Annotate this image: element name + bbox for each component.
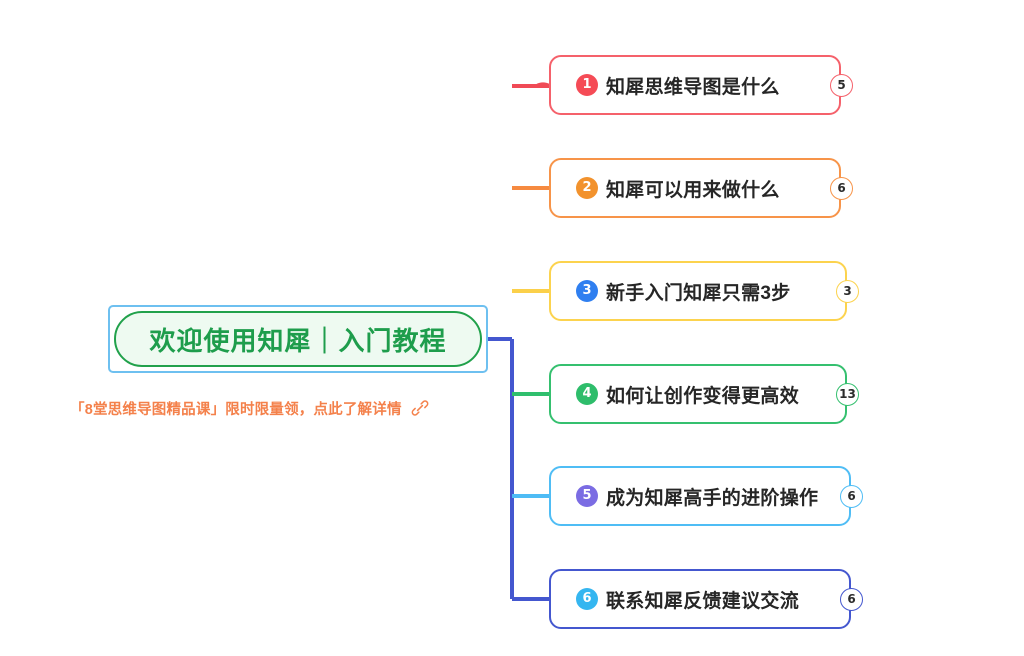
branch-node-2[interactable]: 2 知犀可以用来做什么 bbox=[549, 158, 841, 218]
branch-label-6: 联系知犀反馈建议交流 bbox=[606, 586, 799, 613]
branch-count-5[interactable]: 6 bbox=[840, 485, 863, 508]
root-node[interactable]: 欢迎使用知犀｜入门教程 bbox=[108, 305, 488, 373]
promo-link[interactable]: 「8堂思维导图精品课」限时限量领，点此了解详情 bbox=[70, 394, 510, 422]
branch-count-6[interactable]: 6 bbox=[840, 588, 863, 611]
root-node-label: 欢迎使用知犀｜入门教程 bbox=[149, 321, 446, 358]
branch-count-1[interactable]: 5 bbox=[830, 74, 853, 97]
branch-label-2: 知犀可以用来做什么 bbox=[606, 175, 780, 202]
connector-branch-1 bbox=[512, 84, 549, 86]
branch-count-4[interactable]: 13 bbox=[836, 383, 859, 406]
branch-label-3: 新手入门知犀只需3步 bbox=[606, 278, 791, 305]
branch-label-4: 如何让创作变得更高效 bbox=[606, 381, 799, 408]
branch-badge-5: 5 bbox=[576, 485, 598, 507]
root-node-pill[interactable]: 欢迎使用知犀｜入门教程 bbox=[114, 311, 482, 367]
branch-node-5[interactable]: 5 成为知犀高手的进阶操作 bbox=[549, 466, 851, 526]
branch-badge-4: 4 bbox=[576, 383, 598, 405]
promo-text: 「8堂思维导图精品课」限时限量领，点此了解详情 bbox=[70, 398, 402, 419]
branch-node-6[interactable]: 6 联系知犀反馈建议交流 bbox=[549, 569, 851, 629]
branch-badge-2: 2 bbox=[576, 177, 598, 199]
branch-node-1[interactable]: 1 知犀思维导图是什么 bbox=[549, 55, 841, 115]
branch-node-3[interactable]: 3 新手入门知犀只需3步 bbox=[549, 261, 847, 321]
branch-label-1: 知犀思维导图是什么 bbox=[606, 72, 780, 99]
branch-node-4[interactable]: 4 如何让创作变得更高效 bbox=[549, 364, 847, 424]
branch-badge-3: 3 bbox=[576, 280, 598, 302]
branch-badge-1: 1 bbox=[576, 74, 598, 96]
branch-badge-6: 6 bbox=[576, 588, 598, 610]
mindmap-canvas[interactable]: 欢迎使用知犀｜入门教程 「8堂思维导图精品课」限时限量领，点此了解详情 1 知犀… bbox=[0, 0, 1024, 656]
branch-count-3[interactable]: 3 bbox=[836, 280, 859, 303]
branch-label-5: 成为知犀高手的进阶操作 bbox=[606, 483, 818, 510]
branch-count-2[interactable]: 6 bbox=[830, 177, 853, 200]
link-icon[interactable] bbox=[411, 399, 429, 417]
